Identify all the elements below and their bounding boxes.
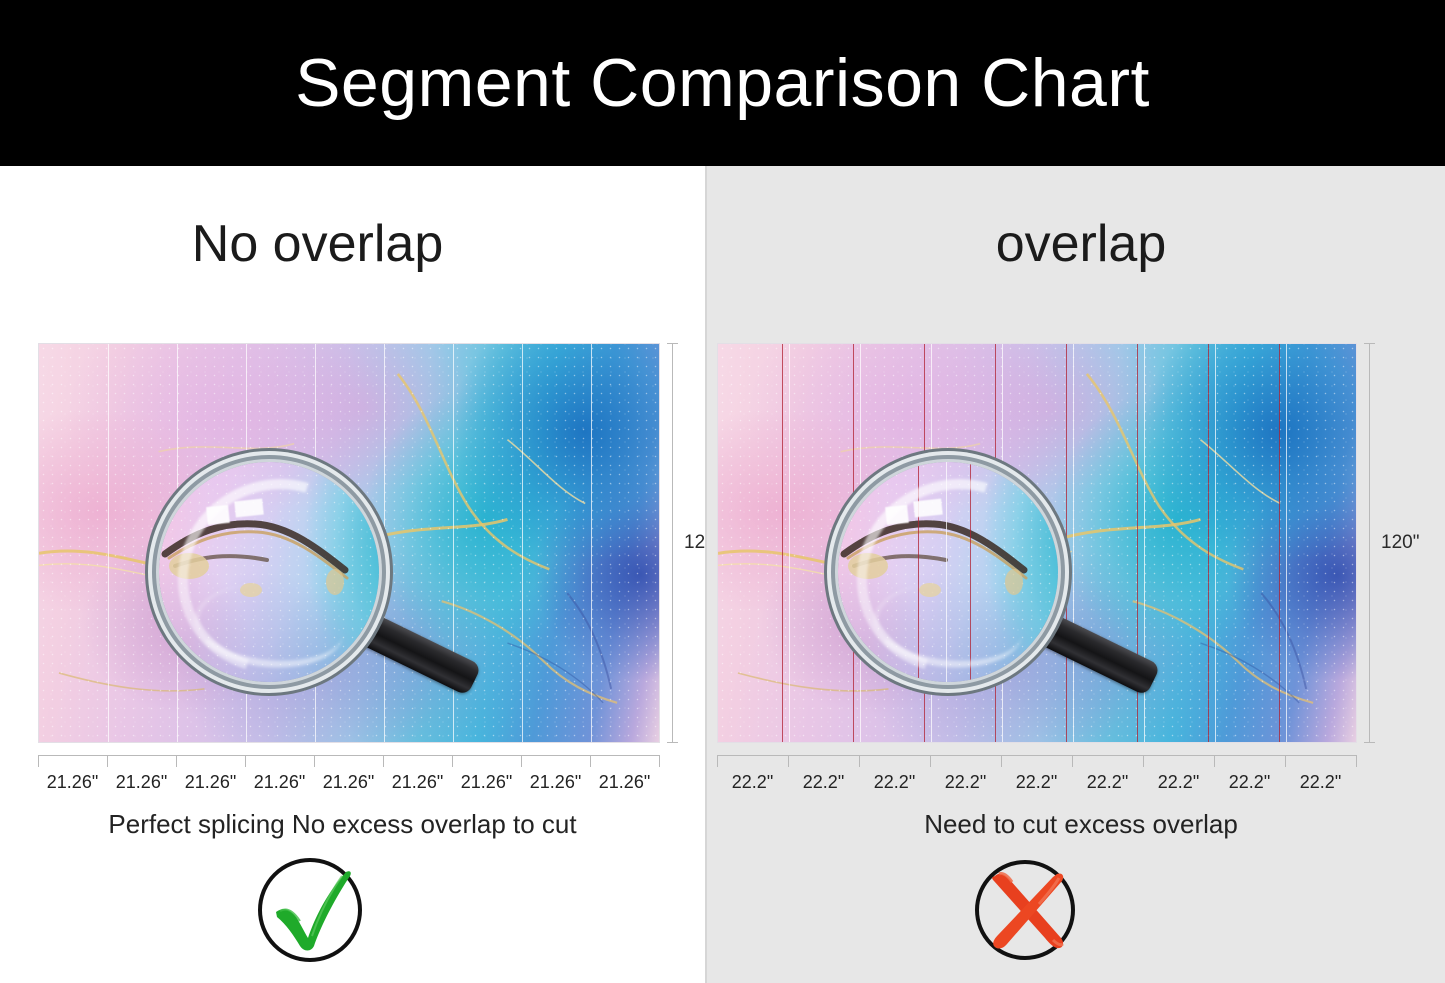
segment-label: 22.2" bbox=[717, 773, 788, 791]
panel-no-overlap: No overlap bbox=[0, 166, 705, 983]
segment-labels-right: 22.2" 22.2" 22.2" 22.2" 22.2" 22.2" 22.2… bbox=[717, 773, 1357, 791]
segment-label: 22.2" bbox=[1072, 773, 1143, 791]
segment-label: 22.2" bbox=[859, 773, 930, 791]
segment-label: 21.26" bbox=[107, 773, 176, 791]
segment-label: 22.2" bbox=[1143, 773, 1214, 791]
caption-overlap: Need to cut excess overlap bbox=[707, 811, 1445, 837]
segment-label: 22.2" bbox=[1285, 773, 1356, 791]
page-title: Segment Comparison Chart bbox=[295, 49, 1150, 117]
height-dimension-line-right bbox=[1369, 343, 1370, 743]
verdict-overlap bbox=[969, 854, 1081, 966]
height-dimension-label-right: 120" bbox=[1381, 532, 1419, 554]
segment-label: 21.26" bbox=[452, 773, 521, 791]
height-dimension-line-left bbox=[672, 343, 673, 743]
segment-label: 21.26" bbox=[521, 773, 590, 791]
segment-labels-left: 21.26" 21.26" 21.26" 21.26" 21.26" 21.26… bbox=[38, 773, 660, 791]
segment-label: 21.26" bbox=[590, 773, 659, 791]
marble-texture bbox=[718, 344, 1356, 742]
segment-label: 21.26" bbox=[38, 773, 107, 791]
segment-label: 21.26" bbox=[176, 773, 245, 791]
title-banner: Segment Comparison Chart bbox=[0, 0, 1445, 166]
segment-ticks-right bbox=[717, 755, 1357, 767]
caption-no-overlap: Perfect splicing No excess overlap to cu… bbox=[0, 811, 705, 837]
segment-label: 22.2" bbox=[1214, 773, 1285, 791]
segment-label: 22.2" bbox=[930, 773, 1001, 791]
cross-circle-icon bbox=[969, 854, 1081, 966]
segment-label: 21.26" bbox=[314, 773, 383, 791]
segment-ticks-left bbox=[38, 755, 660, 767]
figure-no-overlap: 120" 21.26" 21.26" bbox=[38, 343, 660, 743]
panel-heading-no-overlap: No overlap bbox=[0, 218, 705, 270]
artboard-overlap bbox=[717, 343, 1357, 743]
artboard-no-overlap bbox=[38, 343, 660, 743]
segment-comparison-chart-page: Segment Comparison Chart No overlap bbox=[0, 0, 1445, 983]
panel-overlap: overlap bbox=[705, 166, 1445, 983]
verdict-no-overlap bbox=[254, 854, 366, 966]
segment-label: 21.26" bbox=[383, 773, 452, 791]
segment-label: 22.2" bbox=[1001, 773, 1072, 791]
comparison-panels: No overlap bbox=[0, 166, 1445, 983]
segment-label: 21.26" bbox=[245, 773, 314, 791]
panel-heading-overlap: overlap bbox=[707, 218, 1445, 270]
check-circle-icon bbox=[254, 854, 366, 966]
marble-texture bbox=[39, 344, 659, 742]
segment-label: 22.2" bbox=[788, 773, 859, 791]
figure-overlap: 120" 22.2" 22.2" bbox=[717, 343, 1357, 743]
